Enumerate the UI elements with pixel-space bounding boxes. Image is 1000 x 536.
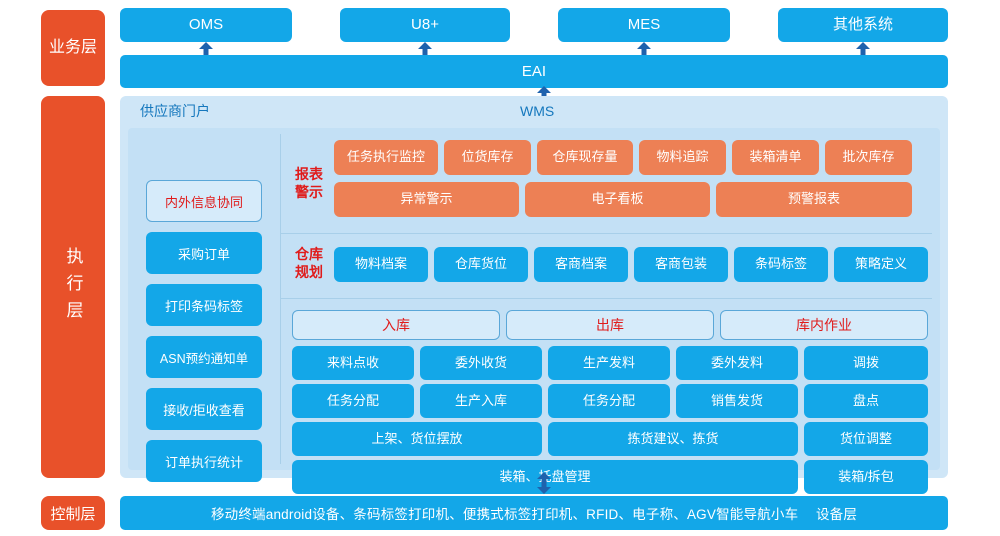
layer-tag-execution: 执行层 xyxy=(41,96,105,478)
report-item-5-label: 批次库存 xyxy=(842,150,894,165)
report-item-3-label: 物料追踪 xyxy=(656,150,708,165)
report-item-8-label: 预警报表 xyxy=(788,192,840,207)
report-item-warning-report[interactable]: 预警报表 xyxy=(716,182,912,217)
operation-r3c3-label: 货位调整 xyxy=(840,432,892,447)
wms-title: WMS xyxy=(520,103,554,119)
supplier-portal-label: 供应商门户 xyxy=(140,101,210,121)
planning-item-2-label: 客商档案 xyxy=(555,257,607,272)
planning-item-0-label: 物料档案 xyxy=(355,257,407,272)
wms-body: 内外信息协同 采购订单 打印条码标签 ASN预约通知单 接收/拒收查看 订单执行… xyxy=(128,128,940,470)
report-item-6-label: 异常警示 xyxy=(400,192,452,207)
planning-item-material-file[interactable]: 物料档案 xyxy=(334,247,428,282)
operation-putaway-location-placement[interactable]: 上架、货位摆放 xyxy=(292,422,542,456)
divider-planning-operations xyxy=(280,298,932,299)
report-item-0-label: 任务执行监控 xyxy=(347,150,425,165)
planning-item-3-label: 客商包装 xyxy=(655,257,707,272)
control-layer-device-bar[interactable]: 移动终端android设备、条码标签打印机、便携式标签打印机、RFID、电子称、… xyxy=(120,496,948,530)
planning-item-4-label: 条码标签 xyxy=(755,257,807,272)
operation-incoming-receipt[interactable]: 来料点收 xyxy=(292,346,414,380)
operation-r2c5-label: 盘点 xyxy=(853,394,879,409)
report-item-exception-alert[interactable]: 异常警示 xyxy=(334,182,519,217)
operation-r3c1-label: 上架、货位摆放 xyxy=(371,432,462,447)
wms-panel: 供应商门户 WMS 内外信息协同 采购订单 打印条码标签 ASN预约通知单 接收… xyxy=(120,96,948,478)
report-section-label-line2: 警示 xyxy=(292,184,326,202)
planning-item-1-label: 仓库货位 xyxy=(455,257,507,272)
operation-r4c2-label: 装箱/拆包 xyxy=(838,470,894,485)
operations-group-header-1-label: 出库 xyxy=(596,315,624,335)
system-box-u8-label: U8+ xyxy=(411,16,439,33)
system-box-other-label: 其他系统 xyxy=(833,16,893,33)
report-item-task-monitor[interactable]: 任务执行监控 xyxy=(334,140,438,175)
operation-production-issue[interactable]: 生产发料 xyxy=(548,346,670,380)
report-item-2-label: 仓库现存量 xyxy=(552,150,617,165)
report-item-1-label: 位货库存 xyxy=(461,150,513,165)
layer-tag-business: 业务层 xyxy=(41,10,105,86)
report-item-material-tracking[interactable]: 物料追踪 xyxy=(639,140,726,175)
planning-section-label: 仓库 规划 xyxy=(292,246,326,281)
system-box-other[interactable]: 其他系统 xyxy=(778,8,948,42)
report-item-electronic-kanban[interactable]: 电子看板 xyxy=(525,182,710,217)
system-box-mes-label: MES xyxy=(628,16,661,33)
system-box-oms-label: OMS xyxy=(189,16,223,33)
planning-item-5-label: 策略定义 xyxy=(855,257,907,272)
operation-r3c2-label: 拣货建议、拣货 xyxy=(627,432,718,447)
portal-button-4-label: 接收/拒收查看 xyxy=(163,400,245,419)
system-box-u8[interactable]: U8+ xyxy=(340,8,510,42)
portal-button-5-label: 订单执行统计 xyxy=(165,452,243,471)
portal-button-asn-notice[interactable]: ASN预约通知单 xyxy=(146,336,262,378)
report-item-location-stock[interactable]: 位货库存 xyxy=(444,140,531,175)
portal-button-print-barcode-label[interactable]: 打印条码标签 xyxy=(146,284,262,326)
planning-item-barcode-label[interactable]: 条码标签 xyxy=(734,247,828,282)
operations-group-header-2-label: 库内作业 xyxy=(796,315,852,335)
report-item-batch-stock[interactable]: 批次库存 xyxy=(825,140,912,175)
portal-button-2-label: 打印条码标签 xyxy=(165,296,243,315)
operation-packing-unpacking[interactable]: 装箱/拆包 xyxy=(804,460,928,494)
planning-item-customer-packaging[interactable]: 客商包装 xyxy=(634,247,728,282)
divider-vertical xyxy=(280,134,281,464)
operation-outsourced-receipt[interactable]: 委外收货 xyxy=(420,346,542,380)
report-item-4-label: 装箱清单 xyxy=(749,150,801,165)
control-layer-device-label: 移动终端android设备、条码标签打印机、便携式标签打印机、RFID、电子称、… xyxy=(211,503,857,523)
divider-report-planning xyxy=(280,233,932,234)
operations-group-header-0-label: 入库 xyxy=(382,315,410,335)
portal-button-order-execution-stats[interactable]: 订单执行统计 xyxy=(146,440,262,482)
layer-tag-business-label: 业务层 xyxy=(49,37,97,59)
portal-button-1-label: 采购订单 xyxy=(178,244,230,263)
system-box-oms[interactable]: OMS xyxy=(120,8,292,42)
operation-r1c1-label: 来料点收 xyxy=(327,356,379,371)
operation-location-adjustment[interactable]: 货位调整 xyxy=(804,422,928,456)
report-section-label-line1: 报表 xyxy=(292,166,326,184)
operation-r1c4-label: 委外发料 xyxy=(711,356,763,371)
operations-group-header-internal[interactable]: 库内作业 xyxy=(720,310,928,340)
operations-group-header-inbound[interactable]: 入库 xyxy=(292,310,500,340)
report-item-warehouse-onhand[interactable]: 仓库现存量 xyxy=(537,140,633,175)
operations-group-header-outbound[interactable]: 出库 xyxy=(506,310,714,340)
operation-task-allocation-in[interactable]: 任务分配 xyxy=(292,384,414,418)
planning-item-warehouse-location[interactable]: 仓库货位 xyxy=(434,247,528,282)
operation-r2c2-label: 生产入库 xyxy=(455,394,507,409)
operation-task-allocation-out[interactable]: 任务分配 xyxy=(548,384,670,418)
report-item-packing-list[interactable]: 装箱清单 xyxy=(732,140,819,175)
operation-stocktaking[interactable]: 盘点 xyxy=(804,384,928,418)
operation-r1c3-label: 生产发料 xyxy=(583,356,635,371)
planning-item-customer-file[interactable]: 客商档案 xyxy=(534,247,628,282)
layer-tag-control-label: 控制层 xyxy=(50,503,95,524)
eai-bar[interactable]: EAI xyxy=(120,55,948,88)
operation-outsourced-issue[interactable]: 委外发料 xyxy=(676,346,798,380)
operation-transfer[interactable]: 调拨 xyxy=(804,346,928,380)
wms-header: 供应商门户 WMS xyxy=(120,96,948,126)
portal-button-purchase-order[interactable]: 采购订单 xyxy=(146,232,262,274)
portal-button-0-label: 内外信息协同 xyxy=(165,192,243,211)
layer-tag-control: 控制层 xyxy=(41,496,105,530)
operation-r1c2-label: 委外收货 xyxy=(455,356,507,371)
portal-button-3-label: ASN预约通知单 xyxy=(160,348,248,367)
report-section-label: 报表 警示 xyxy=(292,166,326,201)
eai-label: EAI xyxy=(522,63,546,80)
operation-r2c3-label: 任务分配 xyxy=(583,394,635,409)
report-item-7-label: 电子看板 xyxy=(591,192,643,207)
operation-r2c4-label: 销售发货 xyxy=(711,394,763,409)
operation-sales-shipment[interactable]: 销售发货 xyxy=(676,384,798,418)
system-box-mes[interactable]: MES xyxy=(558,8,730,42)
planning-item-strategy-definition[interactable]: 策略定义 xyxy=(834,247,928,282)
portal-button-internal-external-collab[interactable]: 内外信息协同 xyxy=(146,180,262,222)
portal-button-receive-reject-view[interactable]: 接收/拒收查看 xyxy=(146,388,262,430)
operation-r2c1-label: 任务分配 xyxy=(327,394,379,409)
planning-section-label-line1: 仓库 xyxy=(292,246,326,264)
operation-r1c5-label: 调拨 xyxy=(853,356,879,371)
operation-production-inbound[interactable]: 生产入库 xyxy=(420,384,542,418)
planning-section-label-line2: 规划 xyxy=(292,264,326,282)
arrow-wms-control xyxy=(534,472,554,494)
operation-picking-suggestion[interactable]: 拣货建议、拣货 xyxy=(548,422,798,456)
layer-tag-execution-label: 执行层 xyxy=(61,247,86,328)
